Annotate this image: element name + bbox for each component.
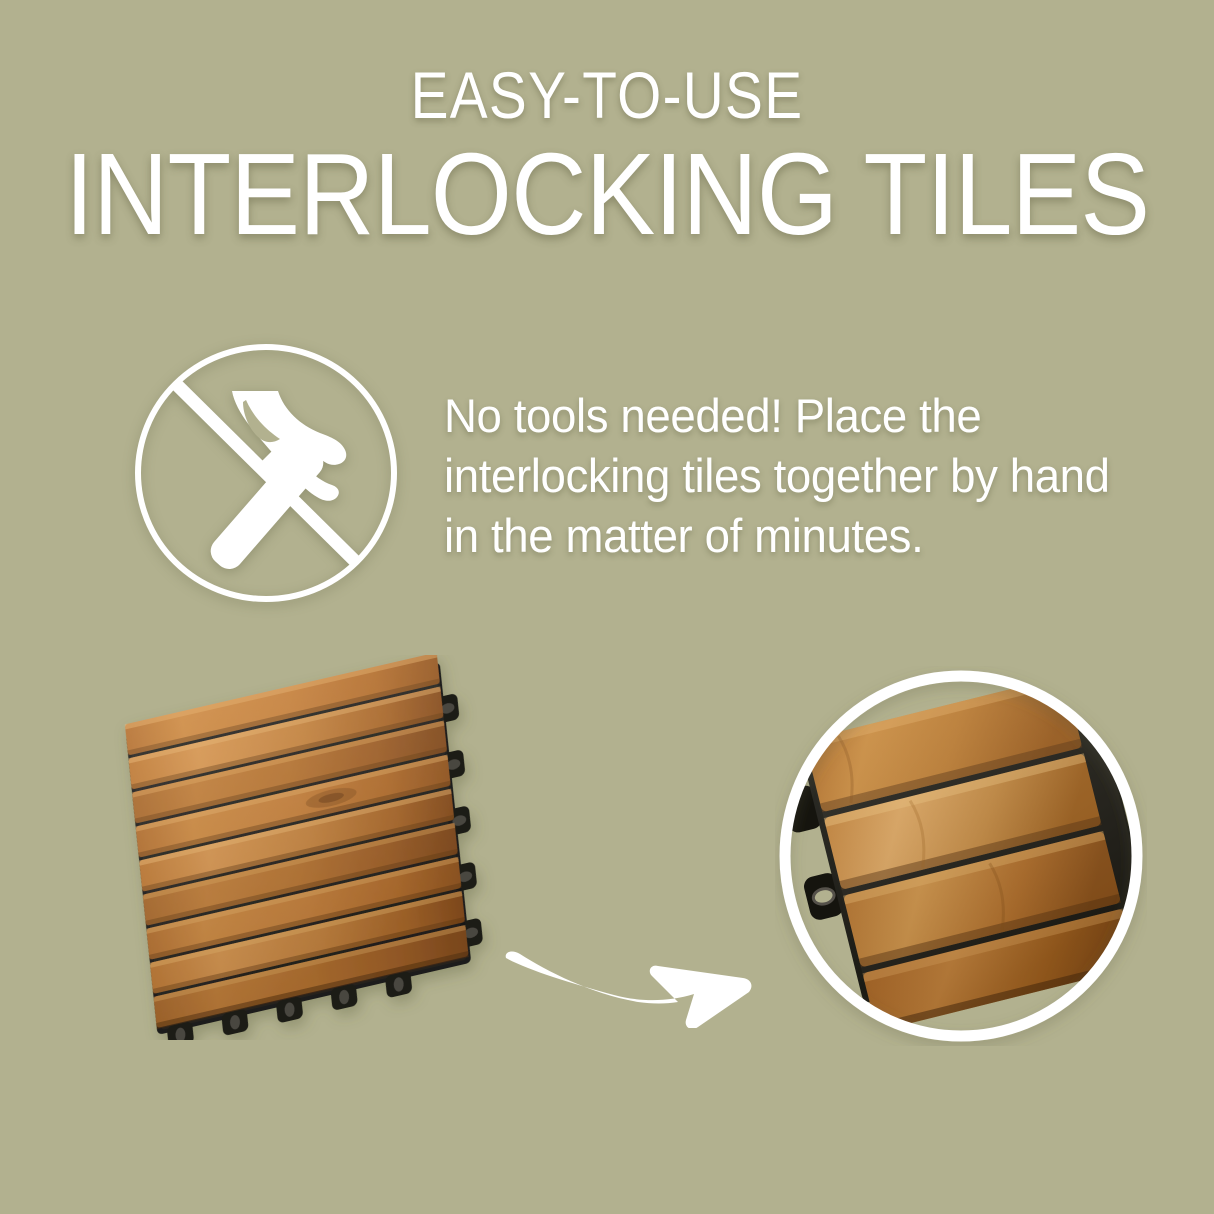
wood-deck-tile-photo <box>75 655 535 1040</box>
curved-arrow-right-icon <box>500 932 760 1028</box>
headline-line-2: INTERLOCKING TILES <box>61 138 1154 250</box>
feature-description: No tools needed! Place the interlocking … <box>444 386 1133 566</box>
infographic-canvas: EASY-TO-USE INTERLOCKING TILES No tools … <box>0 0 1214 1214</box>
page-title: EASY-TO-USE INTERLOCKING TILES <box>0 62 1214 250</box>
tile-corner-closeup-inset <box>775 666 1147 1046</box>
no-tools-hammer-icon <box>131 340 401 606</box>
headline-line-1: EASY-TO-USE <box>85 62 1129 128</box>
